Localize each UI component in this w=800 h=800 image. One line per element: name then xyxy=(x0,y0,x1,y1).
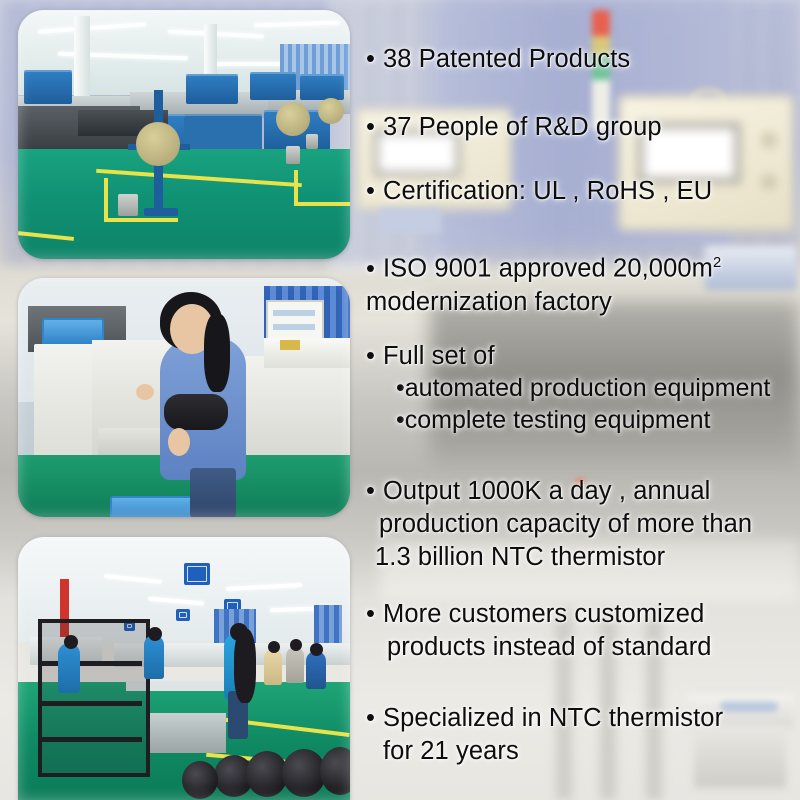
machine-blue xyxy=(24,70,72,104)
wire-spool xyxy=(306,134,318,149)
post-base xyxy=(144,208,178,216)
sub-bullet-marker: • xyxy=(396,374,405,402)
bullet-item-full-set: •Full set of xyxy=(366,340,800,373)
safety-sign xyxy=(184,563,210,585)
worker-head xyxy=(290,639,302,651)
rack-shelf xyxy=(38,661,142,666)
worker-head xyxy=(268,641,280,653)
slide-canvas: •38 Patented Products •37 People of R&D … xyxy=(0,0,800,800)
machine-right xyxy=(240,356,350,466)
line-table xyxy=(146,713,226,753)
bullet-text-line2: for 21 years xyxy=(383,735,800,768)
bullet-marker: • xyxy=(366,111,383,144)
bullet-item-certification: •Certification: UL , RoHS , EU xyxy=(366,175,800,208)
safety-sign xyxy=(176,609,190,621)
storage-rack xyxy=(38,619,150,777)
sub-bullet-marker: • xyxy=(396,406,405,434)
bullet-text: Certification: UL , RoHS , EU xyxy=(383,177,712,205)
bullet-marker: • xyxy=(366,475,383,508)
bullet-marker: • xyxy=(366,175,383,208)
rack-shelf xyxy=(38,701,142,706)
worker-head xyxy=(64,635,78,649)
worker xyxy=(144,635,164,679)
bullet-text: 37 People of R&D group xyxy=(383,113,662,141)
operator-jeans xyxy=(190,468,236,517)
bullet-item-output-capacity: •Output 1000K a day , annual production … xyxy=(366,475,800,574)
cable-drum xyxy=(182,761,218,799)
photo-scene xyxy=(18,278,350,517)
control-panel xyxy=(264,338,350,368)
worker-head xyxy=(148,627,162,641)
bullet-item-patented-products: •38 Patented Products xyxy=(366,43,800,76)
bullet-marker: • xyxy=(366,43,383,76)
photo-scene xyxy=(18,10,350,259)
bullet-marker: • xyxy=(366,253,383,286)
operator-hand xyxy=(168,428,190,456)
bullet-item-rd-group: •37 People of R&D group xyxy=(366,111,800,144)
operator-ponytail xyxy=(204,314,230,392)
wire-reel xyxy=(318,98,344,124)
machine-blue xyxy=(186,74,238,104)
bullet-text: Specialized in NTC thermistor xyxy=(383,704,723,732)
worker xyxy=(264,649,282,685)
bullet-marker: • xyxy=(366,702,383,735)
floor-marking xyxy=(104,218,178,222)
sub-bullet-text: complete testing equipment xyxy=(405,406,711,434)
bullet-item-iso9001: •ISO 9001 approved 20,000m2 modernizatio… xyxy=(366,247,800,319)
worker xyxy=(58,643,80,693)
sub-bullet-complete-testing: •complete testing equipment xyxy=(396,404,800,436)
wire-reel xyxy=(136,122,180,166)
operator-hand xyxy=(136,384,154,400)
bullet-text: ISO 9001 approved 20,000m xyxy=(383,255,713,283)
operator-photo xyxy=(18,278,350,517)
bullet-item-specialized-ntc: •Specialized in NTC thermistor for 21 ye… xyxy=(366,702,800,768)
sub-bullet-automated-production: •automated production equipment xyxy=(396,372,800,404)
notice-line xyxy=(273,310,315,316)
bullet-marker: • xyxy=(366,598,383,631)
worker xyxy=(306,651,326,689)
bullet-text-line2: modernization factory xyxy=(366,286,800,319)
bullet-item-customized-products: •More customers customized products inst… xyxy=(366,598,800,664)
floor-marking xyxy=(294,202,350,206)
machine-blue xyxy=(250,72,296,100)
bullet-text: 38 Patented Products xyxy=(383,45,630,73)
panel-indicator xyxy=(280,340,300,350)
operator-sleeve xyxy=(164,394,228,430)
bullet-text: Full set of xyxy=(383,342,495,370)
bullet-text: More customers customized xyxy=(383,600,704,628)
machine-blue xyxy=(300,74,344,100)
bullet-text-line3: 1.3 billion NTC thermistor xyxy=(375,541,800,574)
production-floor-photo xyxy=(18,10,350,259)
bullet-list: •38 Patented Products •37 People of R&D … xyxy=(366,0,800,800)
worker-hair xyxy=(234,629,256,703)
floor-marking xyxy=(104,178,108,222)
sub-bullet-text: automated production equipment xyxy=(405,374,771,402)
bullet-text-line2: production capacity of more than xyxy=(379,508,800,541)
pillar xyxy=(74,16,90,100)
bullet-text-line2: products instead of standard xyxy=(387,631,800,664)
worker-head xyxy=(310,643,323,656)
floor-marking xyxy=(294,170,298,206)
superscript-two: 2 xyxy=(713,255,721,271)
wire-spool xyxy=(118,194,138,216)
worker xyxy=(286,647,304,683)
wire-spool xyxy=(286,146,300,164)
photo-scene xyxy=(18,537,350,800)
bullet-text: Output 1000K a day , annual xyxy=(383,477,710,505)
bullet-marker: • xyxy=(366,340,383,373)
notice-line xyxy=(273,324,315,330)
rack-shelf xyxy=(38,737,142,742)
assembly-line-photo xyxy=(18,537,350,800)
wire-reel xyxy=(276,102,310,136)
